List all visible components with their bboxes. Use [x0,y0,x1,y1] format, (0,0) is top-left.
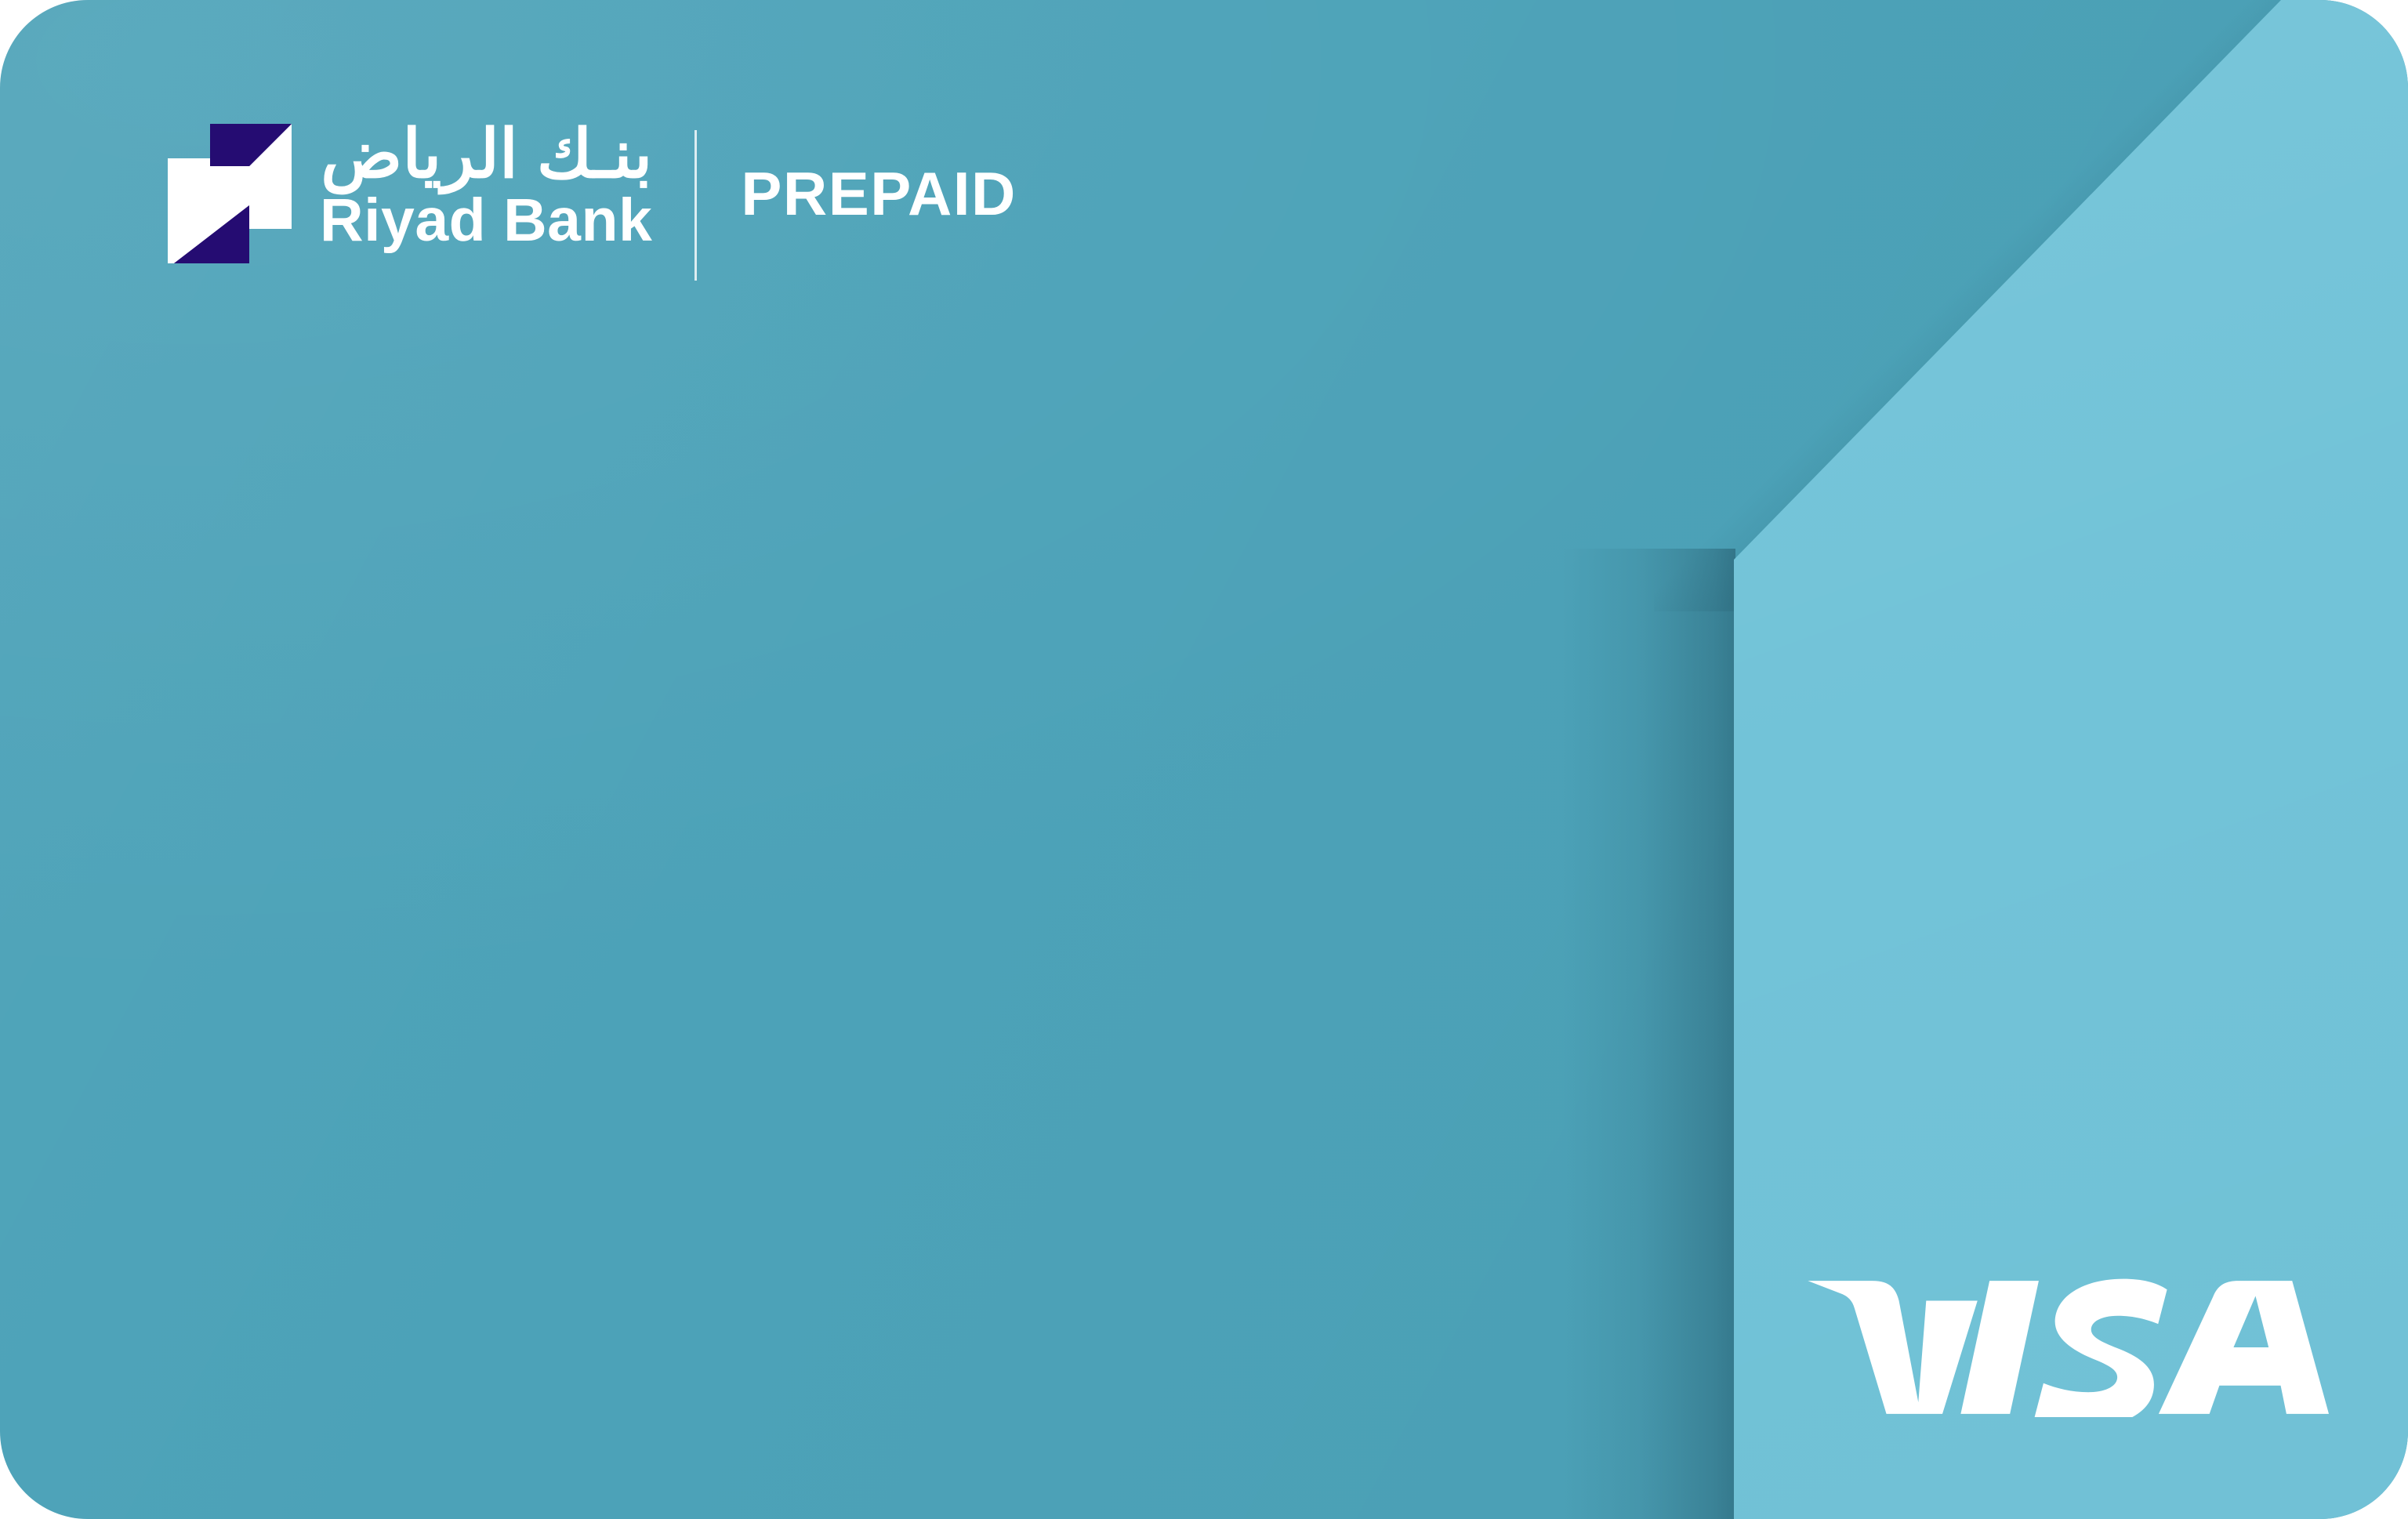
brand-lockup: بنـك الرياض Riyad Bank PREPAID [168,124,1017,281]
brand-name-group: بنـك الرياض Riyad Bank [320,124,652,251]
riyad-bank-logo-mark-icon [168,124,292,263]
product-label: PREPAID [741,163,1016,224]
visa-wordmark-icon [1805,1278,2329,1417]
brand-name-latin: Riyad Bank [320,190,652,251]
prepaid-card: بنـك الرياض Riyad Bank PREPAID [0,0,2408,1519]
panel-vertical-shadow [1561,549,1735,1519]
brand-divider-rule [694,130,697,281]
brand-name-arabic: بنـك الرياض [320,124,652,186]
card-image-root: بنـك الرياض Riyad Bank PREPAID [0,0,2408,1519]
